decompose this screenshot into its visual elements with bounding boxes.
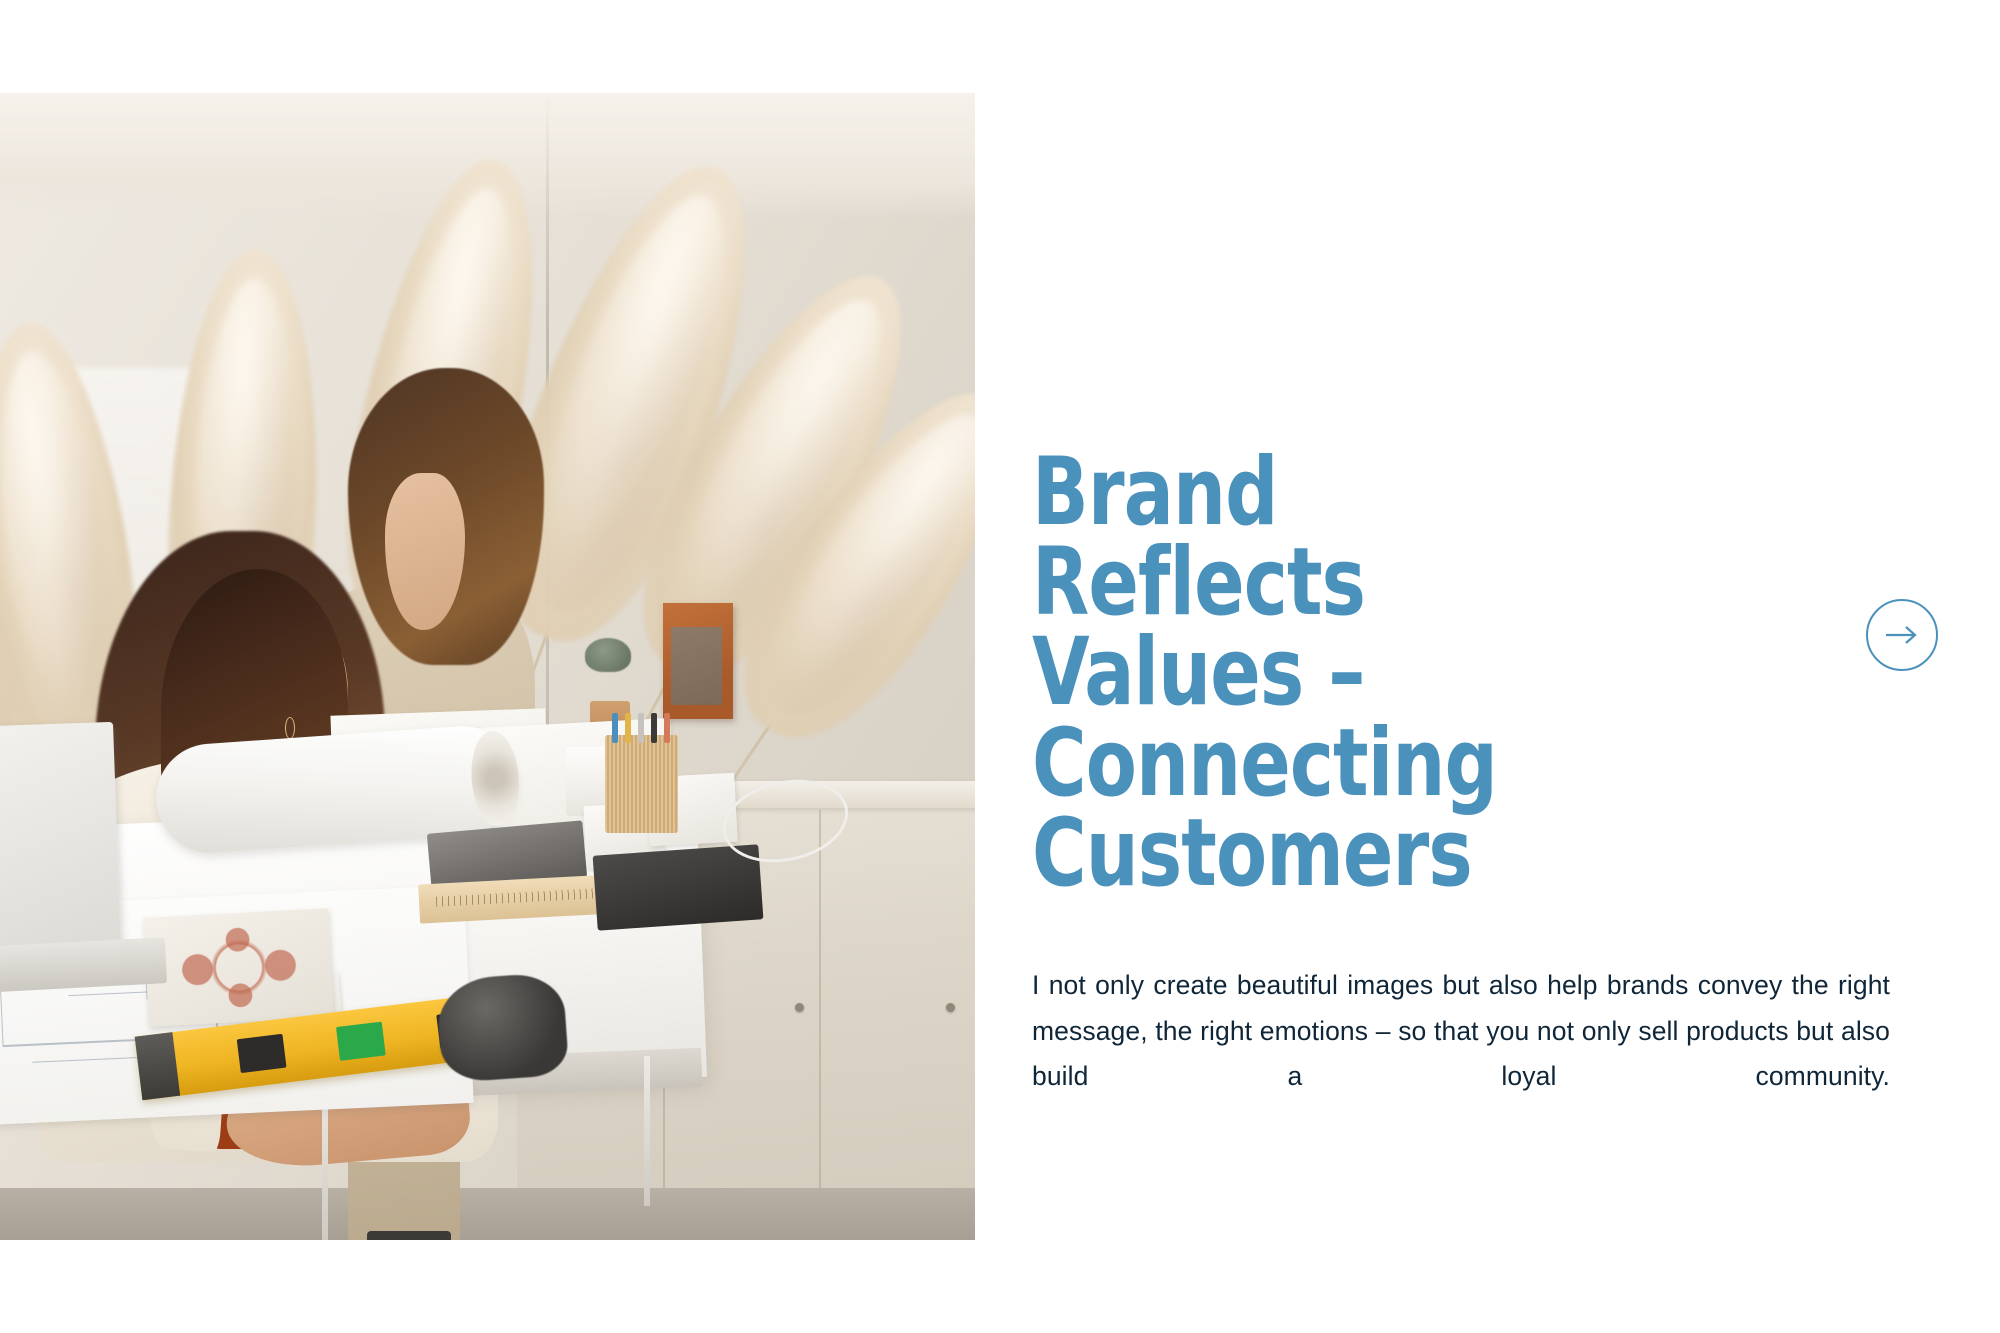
page-title: Brand Reflects Values – Connecting Custo…: [1032, 448, 1578, 899]
laptop: [0, 722, 121, 956]
pencil-cup: [605, 735, 678, 832]
arrow-right-icon: [1885, 625, 1919, 645]
tile-sample: [144, 908, 335, 1026]
body-paragraph: I not only create beautiful images but a…: [1032, 963, 1890, 1145]
hero-photo: [0, 93, 975, 1240]
keyboard: [592, 844, 763, 930]
slide-root: Brand Reflects Values – Connecting Custo…: [0, 0, 2000, 1333]
laptop-base: [0, 937, 167, 993]
photo-scene: [0, 93, 975, 1240]
desk-leg: [644, 1056, 650, 1205]
hoop-earring: [285, 717, 295, 739]
next-slide-button[interactable]: [1866, 599, 1938, 671]
